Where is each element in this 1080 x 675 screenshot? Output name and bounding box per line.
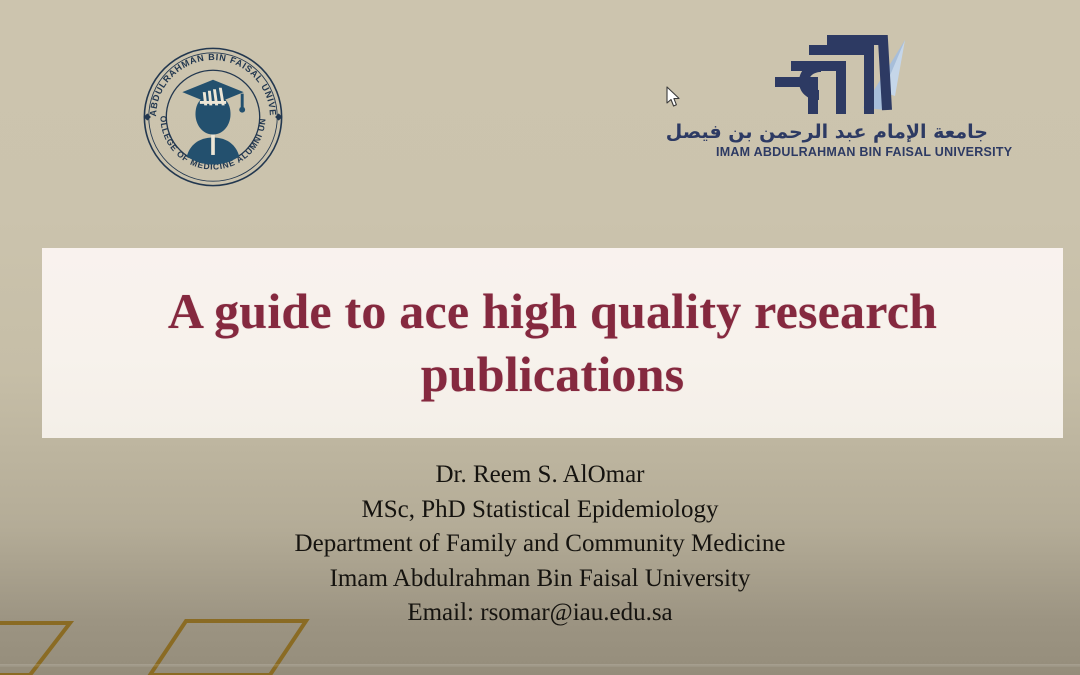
arrow-pointer-icon bbox=[666, 86, 682, 108]
presenter-name: Dr. Reem S. AlOmar bbox=[0, 458, 1080, 493]
gold-parallelogram-decoration bbox=[0, 595, 360, 675]
college-of-medicine-alumni-unit-seal-logo: IMAM ABDULRAHMAN BIN FAISAL UNIVERSITY C… bbox=[140, 44, 286, 190]
presenter-institution: Imam Abdulrahman Bin Faisal University bbox=[0, 562, 1080, 597]
iau-arabic-name: جامعة الإمام عبد الرحمن بن فيصل bbox=[716, 121, 988, 143]
presenter-department: Department of Family and Community Medic… bbox=[0, 527, 1080, 562]
iau-logo-mark-icon bbox=[716, 34, 988, 120]
title-banner: A guide to ace high quality research pub… bbox=[42, 248, 1063, 438]
presentation-slide: IMAM ABDULRAHMAN BIN FAISAL UNIVERSITY C… bbox=[0, 0, 1080, 675]
imam-abdulrahman-bin-faisal-university-logo: جامعة الإمام عبد الرحمن بن فيصل IMAM ABD… bbox=[716, 34, 988, 164]
deco-shape-left bbox=[0, 623, 70, 675]
deco-shape-right bbox=[150, 621, 306, 675]
slide-title: A guide to ace high quality research pub… bbox=[93, 280, 1013, 406]
iau-english-name: IMAM ABDULRAHMAN BIN FAISAL UNIVERSITY bbox=[716, 145, 988, 160]
presenter-credentials: MSc, PhD Statistical Epidemiology bbox=[0, 493, 1080, 528]
